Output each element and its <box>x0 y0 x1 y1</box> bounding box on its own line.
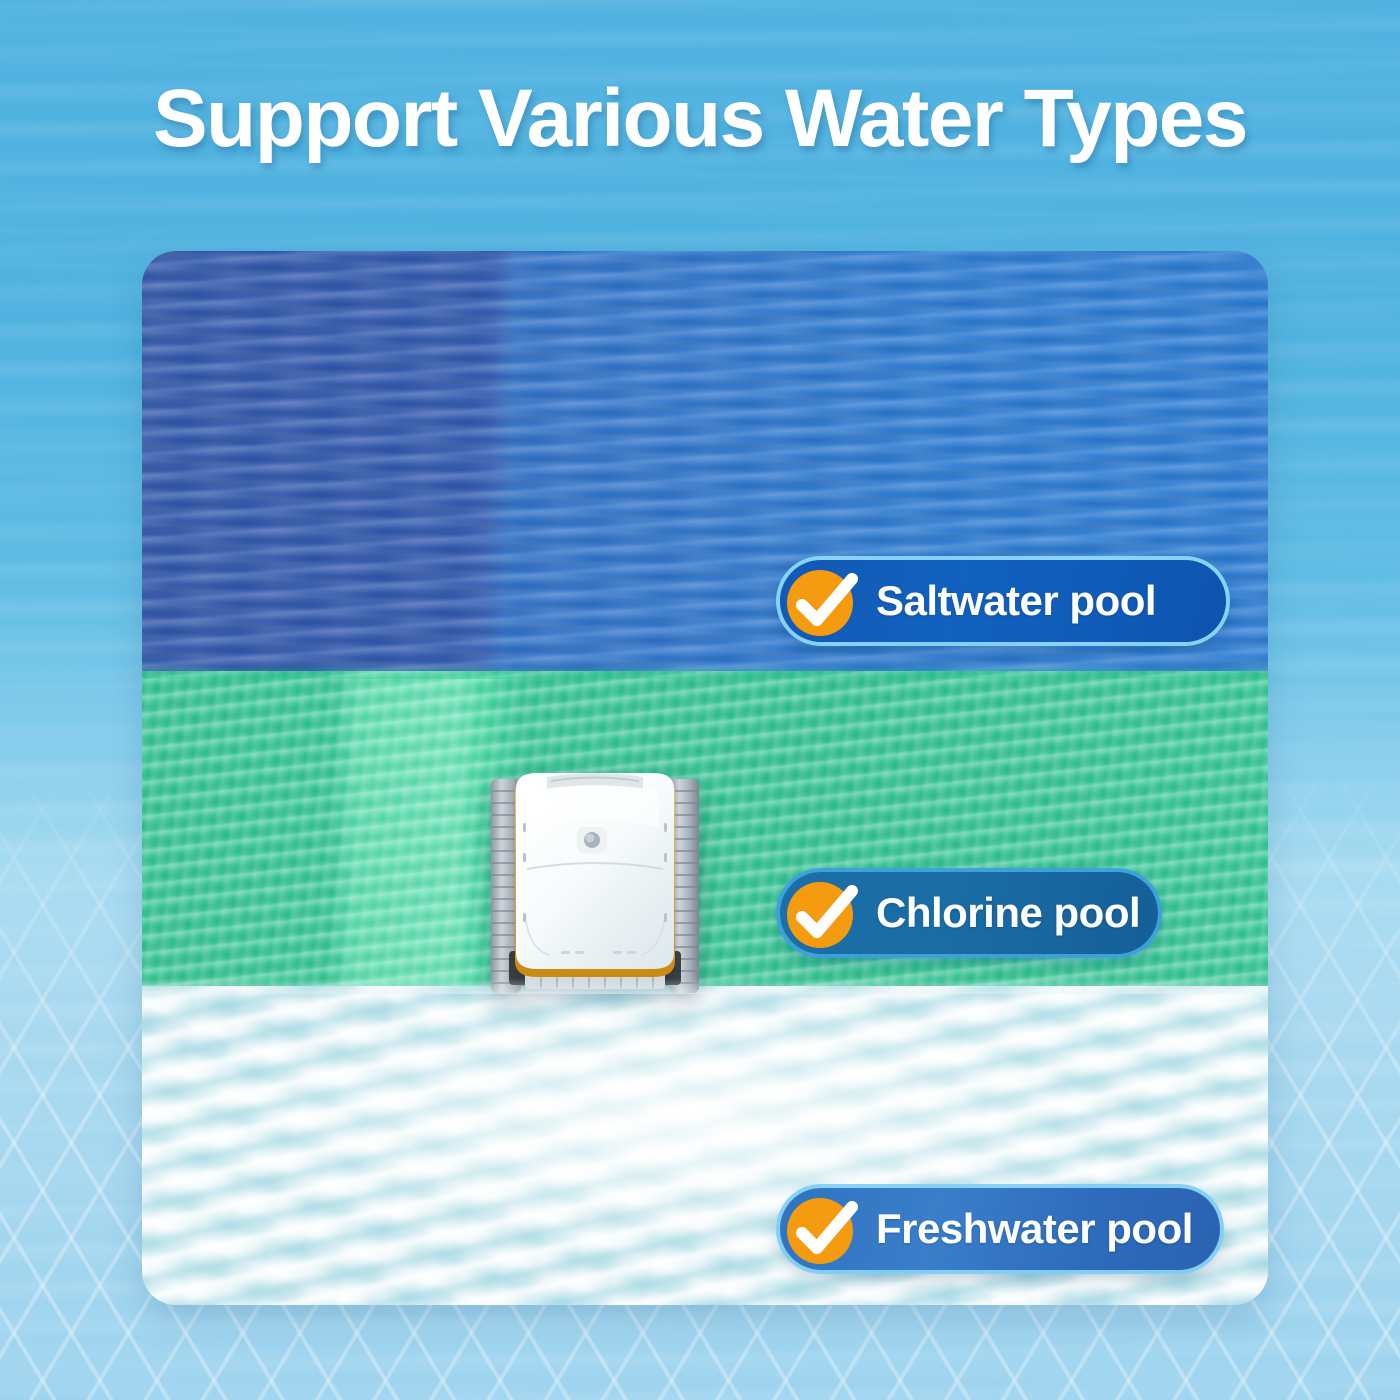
infographic-stage: Support Various Water Types <box>0 0 1400 1400</box>
check-circle-icon <box>776 867 868 959</box>
badge-label: Chlorine pool <box>876 889 1140 937</box>
badge-label: Saltwater pool <box>876 577 1156 625</box>
page-title: Support Various Water Types <box>0 72 1400 166</box>
robotic-pool-cleaner <box>485 765 705 1005</box>
badge-saltwater-pool[interactable]: Saltwater pool <box>780 560 1226 642</box>
check-circle-icon <box>776 1183 868 1275</box>
badge-label: Freshwater pool <box>876 1205 1193 1253</box>
check-circle-icon <box>776 555 868 647</box>
badge-freshwater-pool[interactable]: Freshwater pool <box>780 1188 1220 1270</box>
badge-chlorine-pool[interactable]: Chlorine pool <box>780 872 1158 954</box>
water-types-photo-card <box>142 251 1268 1305</box>
